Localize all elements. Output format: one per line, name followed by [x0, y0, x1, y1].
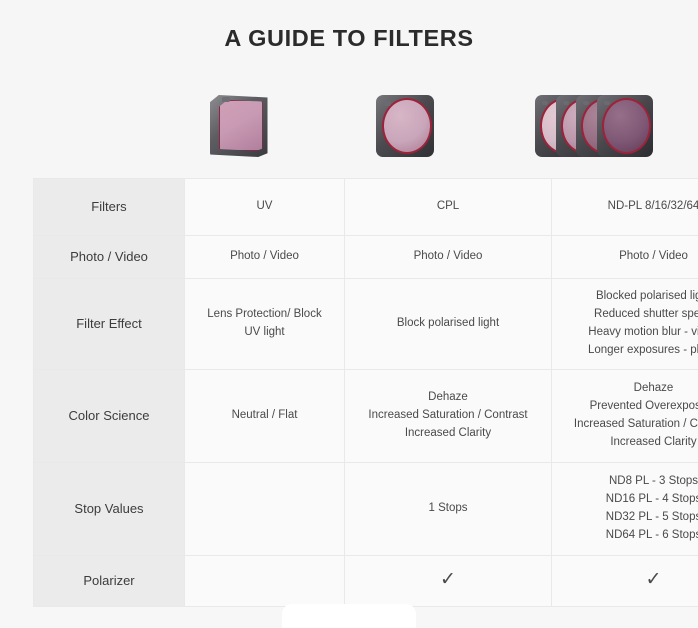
- cell-stop-values-uv: [185, 463, 345, 556]
- product-strip-spacer: [33, 78, 167, 174]
- bottom-rounded-card: [282, 604, 416, 628]
- nd32-notch: [583, 101, 589, 105]
- product-image-strip: [33, 78, 687, 174]
- nd-pl-filter-stack-image: [500, 78, 687, 174]
- table-row-photo-video: Photo / Video Photo / Video Photo / Vide…: [34, 236, 698, 279]
- cell-polarizer-cpl: ✓: [345, 556, 552, 607]
- table-row-color-science: Color Science Neutral / Flat DehazeIncre…: [34, 370, 698, 463]
- uv-filter-notch: [222, 97, 230, 102]
- cell-filter-effect-ndpl: Blocked polarised lightReduced shutter s…: [552, 279, 698, 370]
- column-header-uv: UV: [185, 179, 345, 236]
- cell-color-science-cpl: DehazeIncreased Saturation / ContrastInc…: [345, 370, 552, 463]
- cell-color-science-uv: Neutral / Flat: [185, 370, 345, 463]
- cpl-filter-image: [310, 78, 500, 174]
- cell-photo-video-cpl: Photo / Video: [345, 236, 552, 279]
- uv-filter-image: [167, 78, 310, 174]
- cell-stop-values-ndpl: ND8 PL - 3 StopsND16 PL - 4 StopsND32 PL…: [552, 463, 698, 556]
- guide-to-filters-page: A GUIDE TO FILTERS: [0, 0, 698, 615]
- row-label-polarizer: Polarizer: [34, 556, 185, 607]
- nd64-notch: [604, 101, 610, 105]
- cpl-filter-glass: [382, 98, 432, 154]
- row-label-color-science: Color Science: [34, 370, 185, 463]
- column-header-ndpl: ND-PL 8/16/32/64: [552, 179, 698, 236]
- nd64-glass: [602, 98, 651, 154]
- page-title: A GUIDE TO FILTERS: [0, 0, 698, 52]
- table-row-polarizer: Polarizer ✓ ✓: [34, 556, 698, 607]
- nd8-notch: [542, 101, 548, 105]
- cell-photo-video-ndpl: Photo / Video: [552, 236, 698, 279]
- cell-filter-effect-uv: Lens Protection/ BlockUV light: [185, 279, 345, 370]
- row-label-filter-effect: Filter Effect: [34, 279, 185, 370]
- column-header-filters: Filters: [34, 179, 185, 236]
- table-header-row: Filters UV CPL ND-PL 8/16/32/64: [34, 179, 698, 236]
- table-row-stop-values: Stop Values 1 Stops ND8 PL - 3 StopsND16…: [34, 463, 698, 556]
- cell-polarizer-uv: [185, 556, 345, 607]
- nd16-notch: [563, 101, 569, 105]
- row-label-photo-video: Photo / Video: [34, 236, 185, 279]
- nd64-filter: [597, 95, 653, 157]
- row-label-stop-values: Stop Values: [34, 463, 185, 556]
- column-header-cpl: CPL: [345, 179, 552, 236]
- check-icon-cpl: ✓: [440, 570, 456, 589]
- cpl-filter-notch: [384, 101, 391, 106]
- filters-comparison-table: Filters UV CPL ND-PL 8/16/32/64 Photo / …: [33, 178, 698, 607]
- cell-stop-values-cpl: 1 Stops: [345, 463, 552, 556]
- cell-filter-effect-cpl: Block polarised light: [345, 279, 552, 370]
- uv-filter-glass: [219, 100, 263, 151]
- cell-photo-video-uv: Photo / Video: [185, 236, 345, 279]
- cell-polarizer-ndpl: ✓: [552, 556, 698, 607]
- table-row-filter-effect: Filter Effect Lens Protection/ BlockUV l…: [34, 279, 698, 370]
- check-icon-ndpl: ✓: [646, 570, 662, 589]
- cell-color-science-ndpl: DehazePrevented OverexposureIncreased Sa…: [552, 370, 698, 463]
